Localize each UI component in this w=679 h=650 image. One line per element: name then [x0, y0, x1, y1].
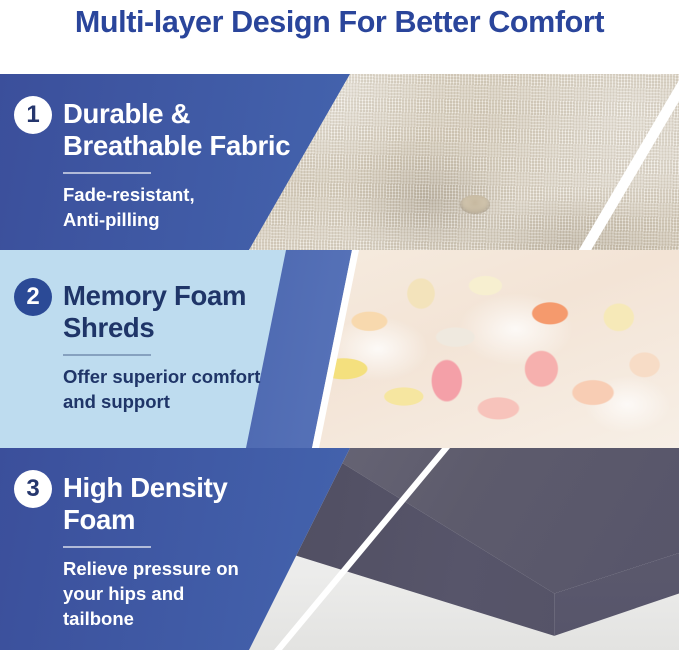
feature-panel-2: 2 Memory Foam Shreds Offer superior comf…	[0, 250, 679, 448]
feature-panel-3-subtitle-line2: your hips and	[63, 582, 420, 607]
feature-panel-3-heading-line1: High Density	[63, 472, 227, 504]
feature-panel-3-heading-row: 3 High Density Foam	[14, 470, 420, 536]
feature-panel-2-subtitle: Offer superior comfort and support	[63, 365, 420, 414]
step-number-badge-3: 3	[14, 470, 52, 508]
feature-panel-3-subtitle-line1: Relieve pressure on	[63, 557, 420, 582]
feature-panel-1-heading: Durable & Breathable Fabric	[63, 96, 290, 162]
feature-panel-1-divider	[63, 172, 151, 174]
feature-panel-3-heading-line2: Foam	[63, 504, 227, 536]
feature-panel-3-subtitle: Relieve pressure on your hips and tailbo…	[63, 557, 420, 631]
feature-panel-2-heading-row: 2 Memory Foam Shreds	[14, 278, 420, 344]
fabric-button-tuft	[460, 195, 490, 214]
product-feature-infographic: Multi-layer Design For Better Comfort 1 …	[0, 0, 679, 650]
page-title: Multi-layer Design For Better Comfort	[75, 0, 604, 44]
feature-panel-1-heading-line2: Breathable Fabric	[63, 130, 290, 162]
feature-panel-1-heading-row: 1 Durable & Breathable Fabric	[14, 96, 420, 162]
feature-panel-2-subtitle-line2: and support	[63, 390, 420, 415]
feature-panel-2-divider	[63, 354, 151, 356]
feature-panel-2-heading: Memory Foam Shreds	[63, 278, 246, 344]
feature-panel-1-text: 1 Durable & Breathable Fabric Fade-resis…	[0, 74, 420, 250]
feature-panel-1-subtitle-line1: Fade-resistant,	[63, 183, 420, 208]
feature-panel-1: 1 Durable & Breathable Fabric Fade-resis…	[0, 74, 679, 250]
feature-panel-2-subtitle-line1: Offer superior comfort	[63, 365, 420, 390]
step-number-badge-2: 2	[14, 278, 52, 316]
feature-panel-3: 3 High Density Foam Relieve pressure on …	[0, 448, 679, 650]
feature-panel-2-heading-line2: Shreds	[63, 312, 246, 344]
feature-panel-2-heading-line1: Memory Foam	[63, 280, 246, 312]
step-number-badge-1: 1	[14, 96, 52, 134]
feature-panel-3-text: 3 High Density Foam Relieve pressure on …	[0, 448, 420, 650]
feature-panel-3-heading: High Density Foam	[63, 470, 227, 536]
feature-panel-1-subtitle: Fade-resistant, Anti-pilling	[63, 183, 420, 232]
infographic-header: Multi-layer Design For Better Comfort	[0, 0, 679, 74]
feature-panel-3-subtitle-line3: tailbone	[63, 607, 420, 632]
feature-panel-3-divider	[63, 546, 151, 548]
feature-panel-1-subtitle-line2: Anti-pilling	[63, 208, 420, 233]
feature-panel-1-heading-line1: Durable &	[63, 98, 290, 130]
feature-panel-2-text: 2 Memory Foam Shreds Offer superior comf…	[0, 250, 420, 448]
